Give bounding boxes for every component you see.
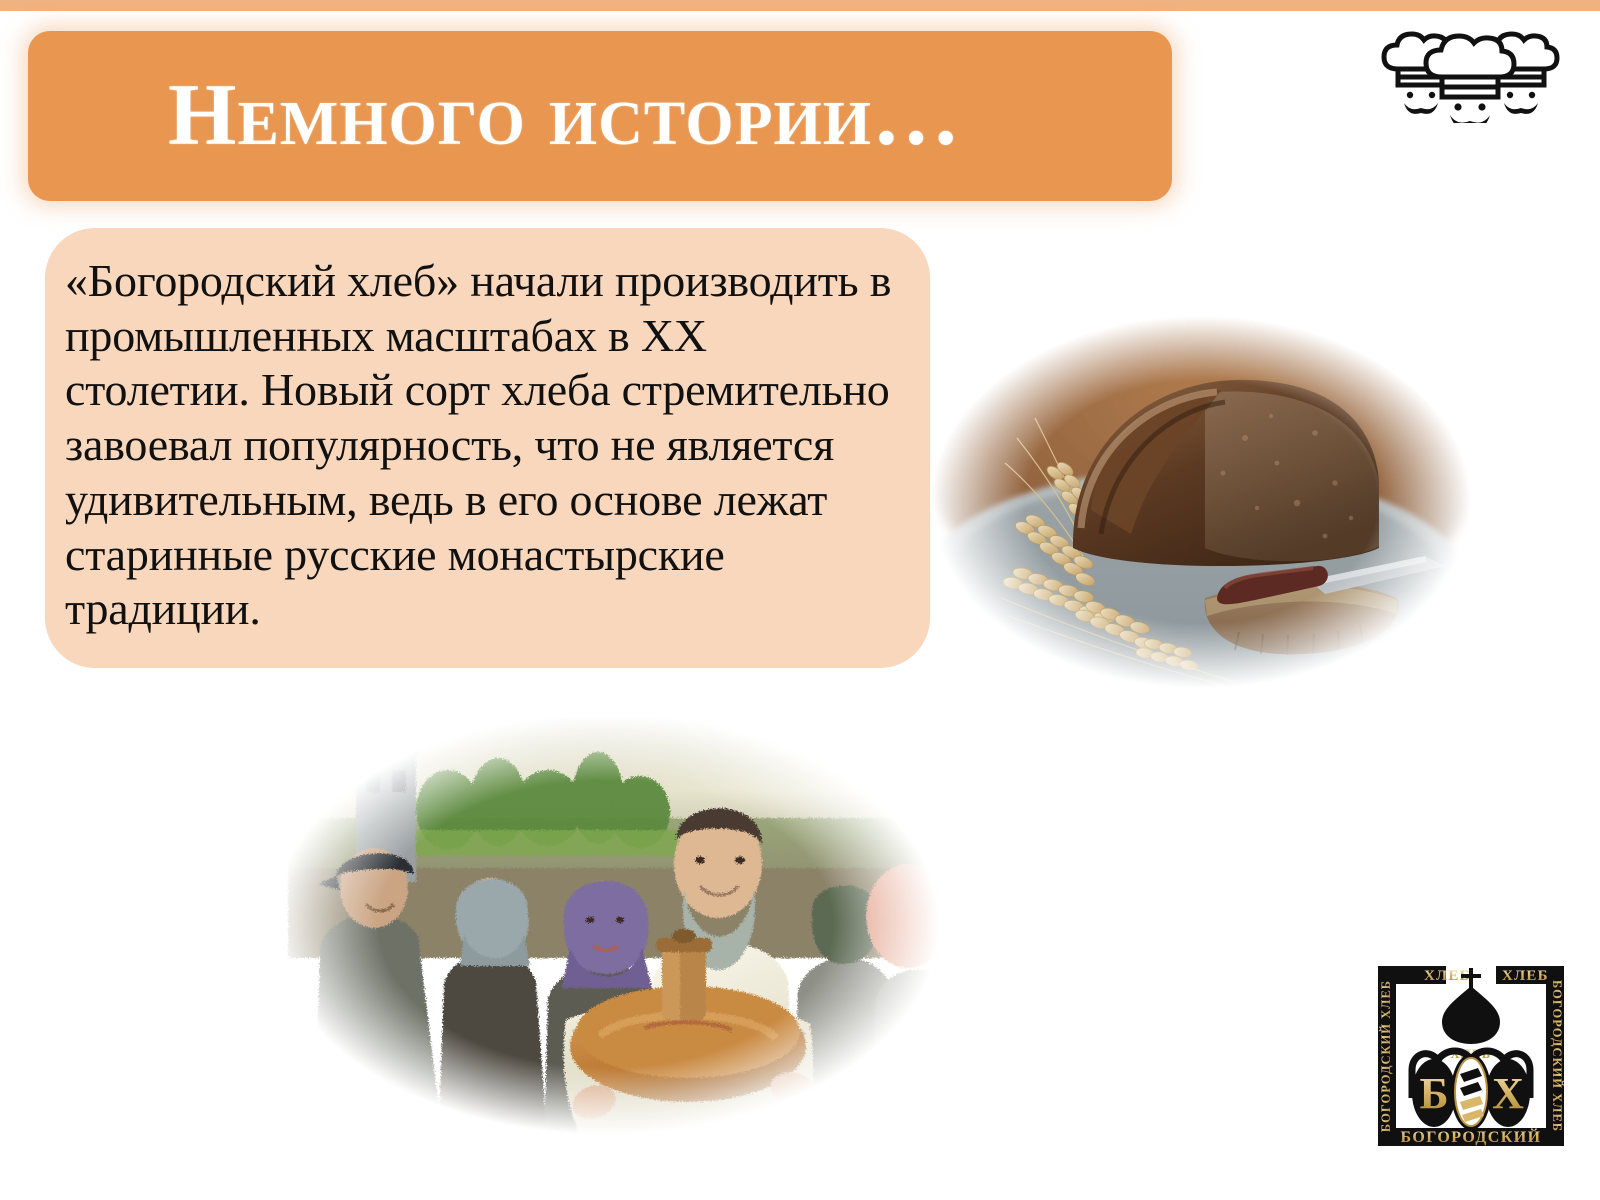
top-accent-strip — [0, 0, 1600, 11]
brand-logo: ХЛЕБ ХЛЕБ БОГОРОДСКИЙ БОГОРОДСКИЙ ХЛЕБ Б… — [1372, 952, 1570, 1152]
logo-top-right-word: ХЛЕБ — [1502, 968, 1549, 984]
bread-and-salt-painting — [248, 698, 964, 1150]
chef-hats-icon — [1376, 25, 1566, 123]
logo-left-side-word: БОГОРОДСКИЙ ХЛЕБ — [1379, 980, 1393, 1132]
logo-monogram-left: Б — [1419, 1069, 1448, 1118]
logo-monogram-right: Х — [1492, 1069, 1524, 1118]
logo-right-side-word: БОГОРОДСКИЙ ХЛЕБ — [1550, 980, 1564, 1132]
slide: Немного истории… — [0, 0, 1600, 1200]
title-banner: Немного истории… — [28, 31, 1172, 201]
body-paragraph: «Богородский хлеб» начали производить в … — [65, 254, 896, 637]
page-title: Немного истории… — [168, 72, 961, 160]
body-text-card: «Богородский хлеб» начали производить в … — [45, 228, 930, 668]
bread-photo — [905, 298, 1497, 706]
